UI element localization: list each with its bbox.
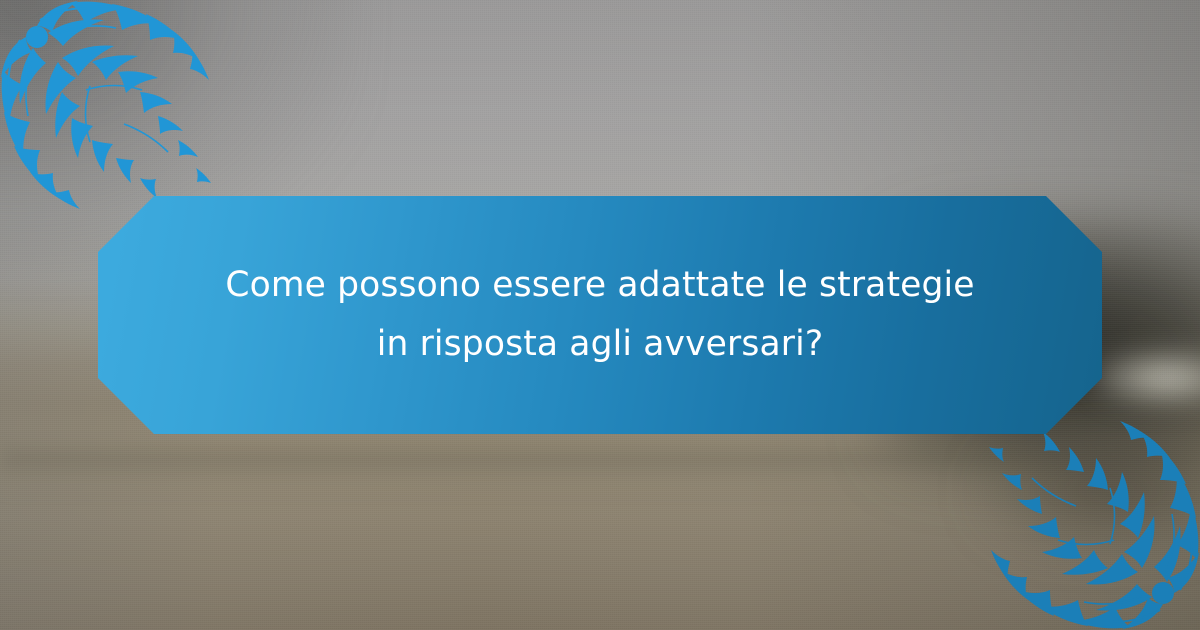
damask-ornament-icon: [0, 0, 215, 215]
damask-ornament-icon: [985, 415, 1200, 630]
corner-ornament-top-left: [0, 0, 215, 215]
quote-card: Come possono essere adattate le strategi…: [0, 0, 1200, 630]
quote-text: Come possono essere adattate le strategi…: [216, 256, 984, 375]
corner-ornament-bottom-right: [985, 415, 1200, 630]
quote-banner: Come possono essere adattate le strategi…: [98, 196, 1102, 434]
